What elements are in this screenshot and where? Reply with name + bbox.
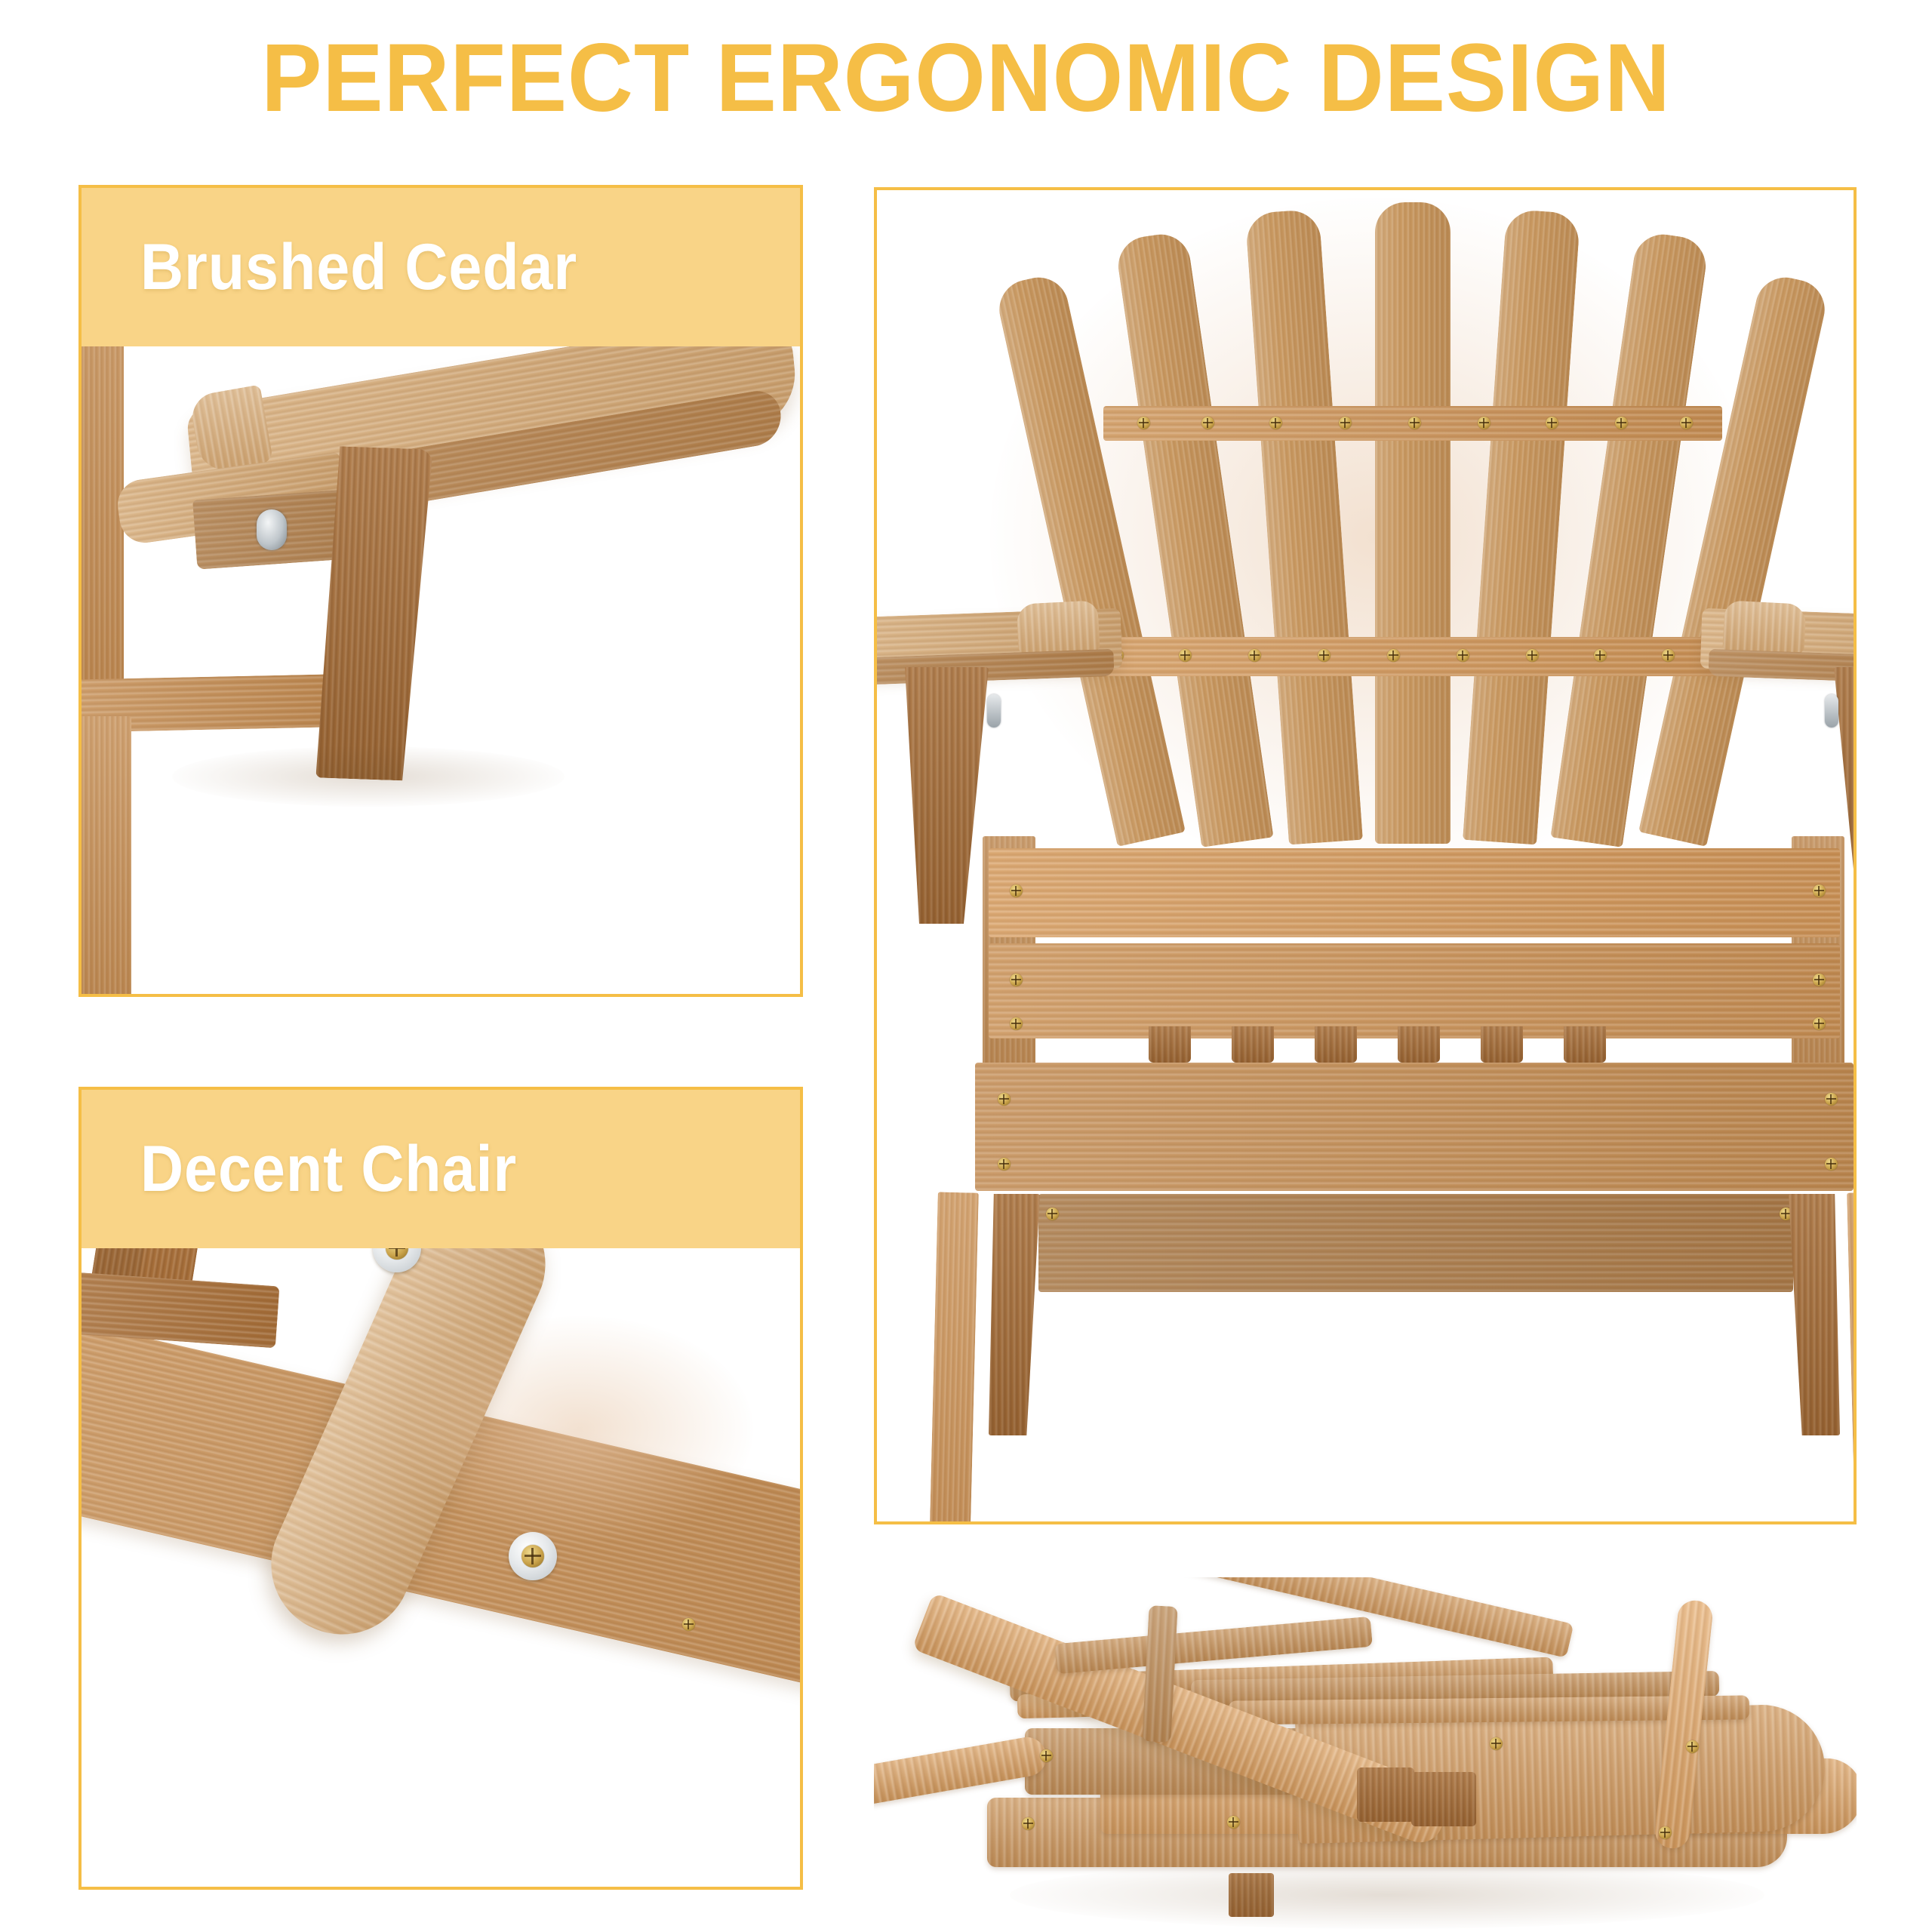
panel-brushed-cedar: Brushed Cedar [78,185,803,997]
label-band-brushed-cedar: Brushed Cedar [82,188,800,346]
folded-screw-1-icon [1490,1737,1503,1750]
front-apron-rail [975,1063,1854,1191]
seat-board-bottom [989,943,1840,1038]
arm-post-left [900,667,989,924]
photo-full-adirondack-chair [877,190,1854,1521]
seat-board-top [989,848,1840,937]
folded-screw-3-icon [1659,1826,1672,1839]
page-title: PERFECT ERGONOMIC DESIGN [58,26,1874,131]
panel-label-brushed-cedar: Brushed Cedar [140,232,577,302]
label-band-decent-chair: Decent Chair [82,1090,800,1248]
leg-rear-left [989,1194,1040,1435]
panel-decent-chair: Decent Chair [78,1087,803,1890]
folding-pivot-left-icon [1046,1207,1059,1220]
leg-front-left [928,1192,979,1521]
folded-screw-6-icon [1040,1749,1053,1762]
leg-front-right [1847,1192,1854,1521]
brace-screw-bottom-icon [521,1545,544,1567]
photo-folded-chair [874,1577,1857,1932]
folded-screw-4-icon [1227,1816,1240,1829]
leg-rear-right [1789,1194,1840,1435]
board-screw-icon [682,1618,695,1631]
folded-screw-2-icon [1686,1740,1699,1753]
armrest-bolt-icon [257,509,287,550]
infographic-canvas: PERFECT ERGONOMIC DESIGN [0,0,1932,1932]
panel-full-chair [874,187,1857,1524]
panel-label-decent-chair: Decent Chair [140,1134,517,1204]
lower-stretcher [1038,1194,1793,1292]
folded-screw-5-icon [1022,1817,1035,1830]
